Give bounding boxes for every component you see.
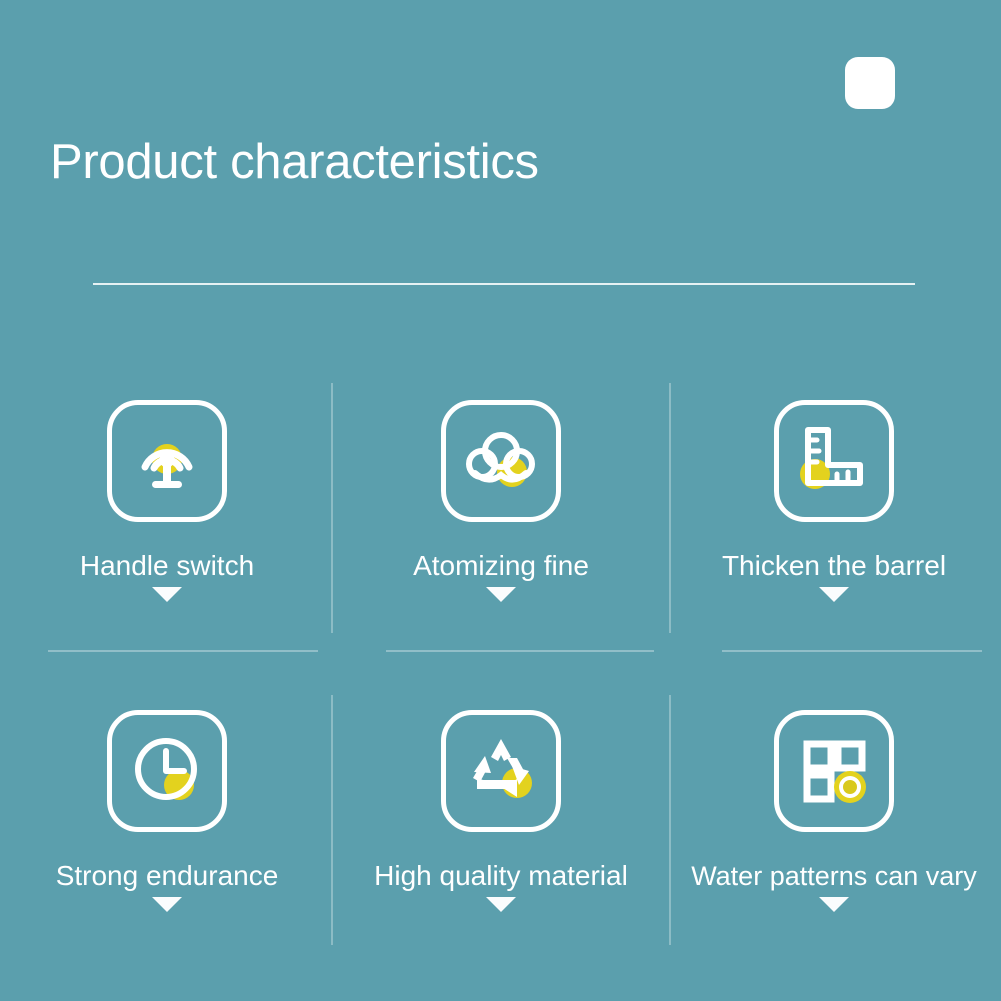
clock-icon [121,725,213,817]
feature-item: Atomizing fine [334,375,668,665]
feature-item: High quality material [334,685,668,975]
feature-label: Water patterns can vary [691,859,977,893]
down-triangle-icon [819,587,849,602]
feature-item: Water patterns can vary [667,685,1001,975]
feature-label: Handle switch [80,549,254,583]
feature-icon-tile [107,710,227,832]
feature-label: Strong endurance [56,859,279,893]
product-characteristics-page: Product characteristics Handle switch [0,0,1001,1001]
feature-icon-tile [441,710,561,832]
feature-label: Atomizing fine [413,549,589,583]
feature-label: Thicken the barrel [722,549,946,583]
down-triangle-icon [486,897,516,912]
grid-squares-icon [788,725,880,817]
feature-label: High quality material [374,859,628,893]
recycle-icon [455,725,547,817]
down-triangle-icon [486,587,516,602]
title-divider [93,283,915,285]
feature-icon-tile [774,710,894,832]
feature-item: Thicken the barrel [667,375,1001,665]
cloud-mist-icon [455,415,547,507]
white-rounded-square-badge [845,57,895,109]
down-triangle-icon [819,897,849,912]
ruler-measure-icon [788,415,880,507]
feature-item: Handle switch [0,375,334,665]
feature-icon-tile [107,400,227,522]
page-title: Product characteristics [50,131,539,193]
down-triangle-icon [152,587,182,602]
feature-grid: Handle switch Atomizing fine [0,375,1001,975]
feature-item: Strong endurance [0,685,334,975]
feature-icon-tile [774,400,894,522]
down-triangle-icon [152,897,182,912]
feature-icon-tile [441,400,561,522]
broadcast-signal-icon [121,415,213,507]
